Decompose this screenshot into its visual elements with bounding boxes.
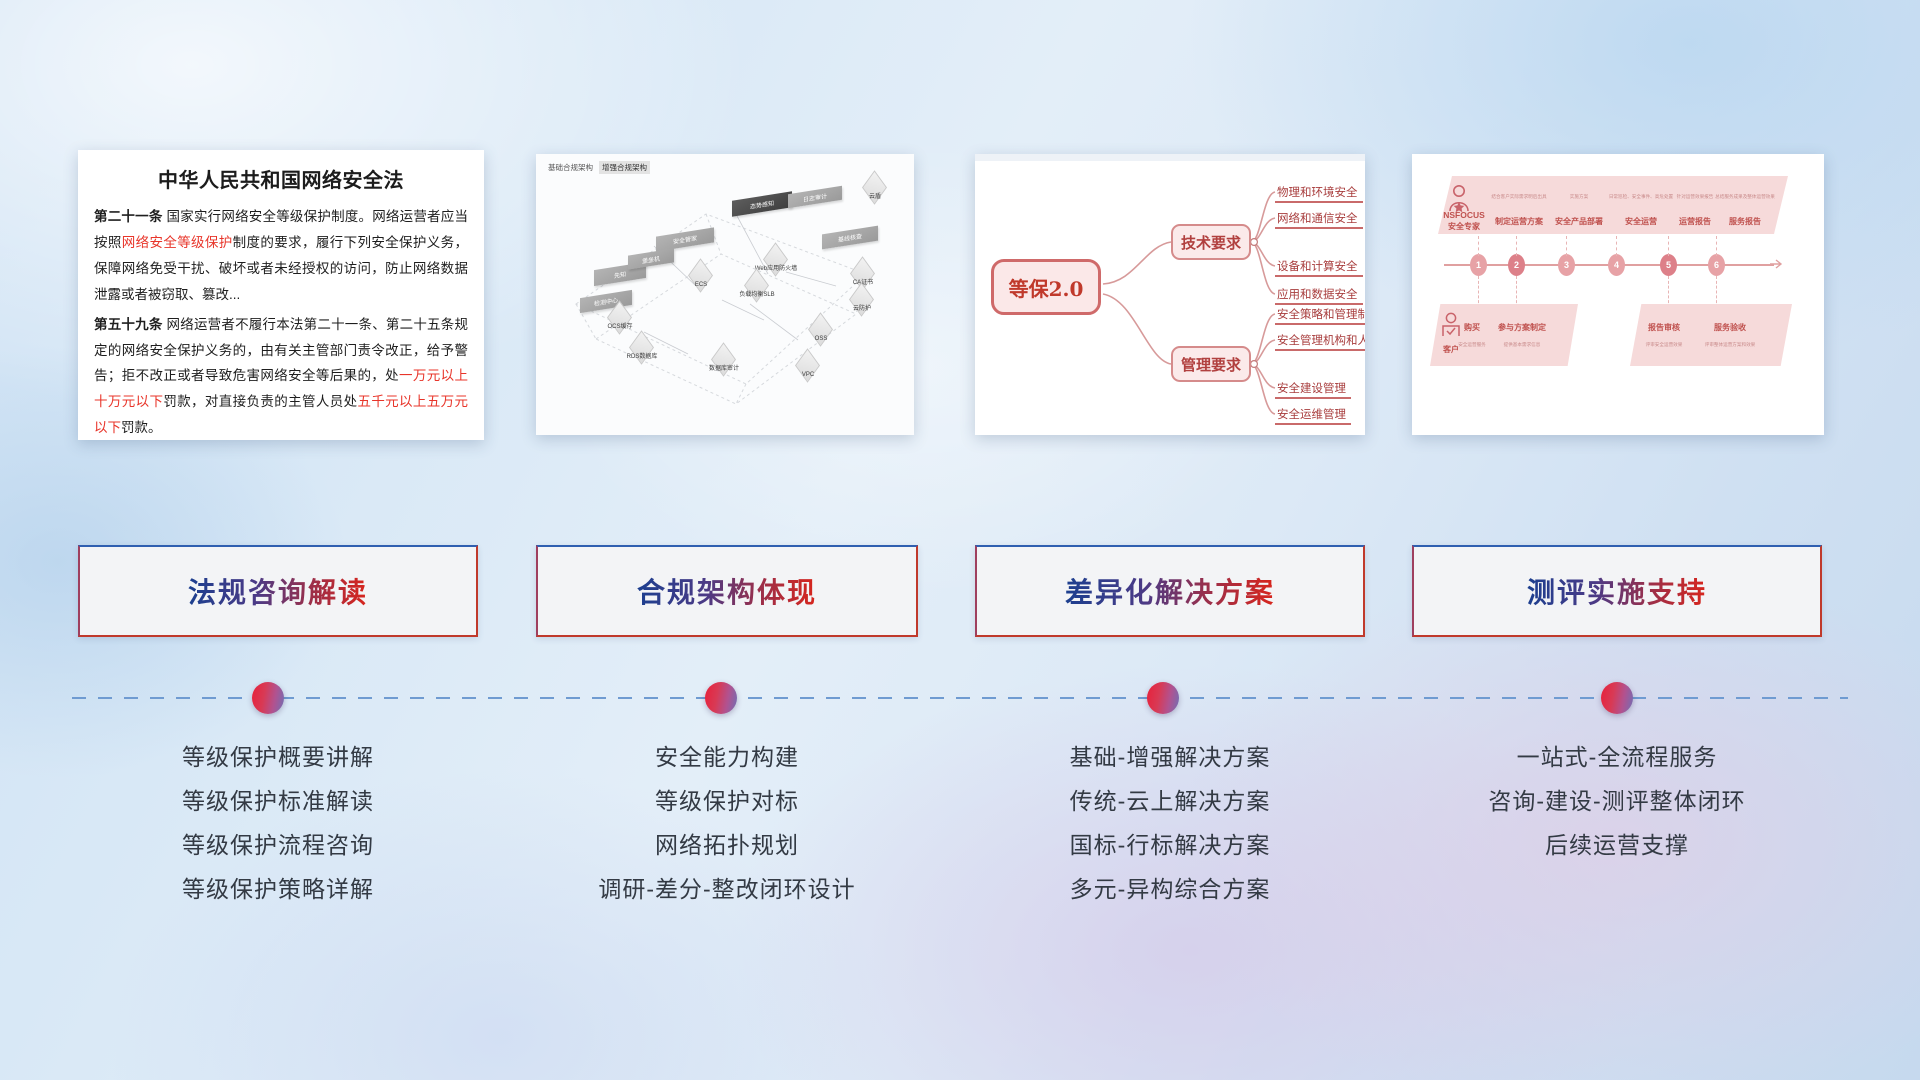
mindmap-leaf-underline: [1275, 397, 1351, 399]
mindmap-leaf[interactable]: 安全运维管理: [1277, 406, 1346, 422]
architecture-node: 云防护: [842, 306, 882, 313]
mindmap: 等保2.0 技术要求 管理要求 物理和环境安全网络和通信安全设备和计算安全应用和…: [975, 154, 1365, 435]
mindmap-leaf[interactable]: 应用和数据安全: [1277, 286, 1358, 302]
card-dengbao-mindmap: 等保2.0 技术要求 管理要求 物理和环境安全网络和通信安全设备和计算安全应用和…: [975, 154, 1365, 435]
nsfocus-bottom-step-title[interactable]: 报告审核: [1634, 322, 1694, 333]
mindmap-leaf[interactable]: 安全策略和管理制度: [1277, 306, 1365, 322]
architecture-node: 负载均衡SLB: [724, 292, 790, 299]
nsfocus-bottom-step-title[interactable]: 参与方案制定: [1492, 322, 1552, 333]
slide-stage: 中华人民共和国网络安全法 第二十一条 国家实行网络安全等级保护制度。网络运营者应…: [0, 0, 1920, 1080]
pillar-headers: 法规咨询解读 合规架构体现 差异化解决方案 测评实施支持: [0, 545, 1920, 645]
pillar-header-4[interactable]: 测评实施支持: [1412, 545, 1822, 637]
pillar-4-item: 一站式-全流程服务: [1412, 735, 1822, 779]
pillar-header-2[interactable]: 合规架构体现: [536, 545, 918, 637]
nsfocus-timeline: NSFOCUS 安全专家 结合客户实际需求明后出具制定运营方案实施方案安全产品部…: [1412, 154, 1824, 435]
mindmap-leaf-underline: [1275, 349, 1365, 351]
pillar-2-item: 等级保护对标: [536, 779, 918, 823]
law-article-21-label: 第二十一条: [94, 209, 163, 224]
pillar-node-4[interactable]: [1601, 682, 1633, 714]
pillar-1-item: 等级保护概要讲解: [78, 735, 478, 779]
card-compliance-architecture: 基础合规架构 增强合规架构 先知安全管家: [536, 154, 914, 435]
nsfocus-step-sub: 总结服务成果及整体运营效果: [1706, 194, 1784, 200]
pillar-header-2-label: 合规架构体现: [637, 571, 817, 611]
pillar-2-item: 安全能力构建: [536, 735, 918, 779]
architecture-node: 数据库审计: [696, 366, 752, 373]
pillar-2-item: 调研-差分-整改闭环设计: [536, 867, 918, 911]
mindmap-leaf[interactable]: 安全管理机构和人员: [1277, 332, 1365, 348]
law-title: 中华人民共和国网络安全法: [94, 164, 468, 193]
pillar-3-item: 基础-增强解决方案: [975, 735, 1365, 779]
mindmap-root-node[interactable]: 等保2.0: [991, 259, 1101, 315]
architecture-node: VPC: [792, 372, 824, 379]
timeline-link-up: [1478, 236, 1479, 256]
law-article-59-text-c: 罚款。: [121, 420, 162, 435]
timeline-link-up: [1566, 236, 1567, 256]
pillar-header-3-label: 差异化解决方案: [1065, 571, 1275, 611]
timeline-step-2[interactable]: 2: [1508, 254, 1525, 276]
architecture-node: OSS: [804, 336, 838, 343]
pillar-3-item: 国标-行标解决方案: [975, 823, 1365, 867]
timeline-link-up: [1516, 236, 1517, 256]
illustration-cards: 中华人民共和国网络安全法 第二十一条 国家实行网络安全等级保护制度。网络运营者应…: [0, 150, 1920, 450]
nsfocus-step-title[interactable]: 服务报告: [1704, 216, 1786, 227]
timeline-link-up: [1716, 236, 1717, 256]
pillar-node-3[interactable]: [1147, 682, 1179, 714]
pillar-4-item: 后续运营支撑: [1412, 823, 1822, 867]
mindmap-leaf-underline: [1275, 303, 1363, 305]
mindmap-leaf[interactable]: 设备和计算安全: [1277, 258, 1358, 274]
timeline-arrow-icon: [1770, 258, 1784, 272]
mindmap-leaf[interactable]: 网络和通信安全: [1277, 210, 1358, 226]
pillar-header-1-label: 法规咨询解读: [188, 571, 368, 611]
mindmap-leaf-underline: [1275, 201, 1363, 203]
nsfocus-bottom-step-title[interactable]: 服务验收: [1700, 322, 1760, 333]
card-cybersecurity-law: 中华人民共和国网络安全法 第二十一条 国家实行网络安全等级保护制度。网络运营者应…: [78, 150, 484, 440]
law-article-59: 第五十九条 网络运营者不履行本法第二十一条、第二十五条规定的网络安全保护义务的，…: [94, 312, 468, 440]
timeline-link-down: [1716, 276, 1717, 308]
pillar-2-item: 网络拓扑规划: [536, 823, 918, 867]
architecture-node: ECS: [686, 282, 716, 289]
customer-band-right: [1630, 304, 1792, 366]
architecture-node: RDS数据库: [614, 354, 670, 361]
tab-enhanced-architecture[interactable]: 增强合规架构: [599, 161, 650, 174]
timeline-link-down: [1668, 276, 1669, 308]
architecture-node: Web应用防火墙: [740, 266, 812, 273]
law-text-block: 中华人民共和国网络安全法 第二十一条 国家实行网络安全等级保护制度。网络运营者应…: [78, 150, 484, 440]
pillar-1-item: 等级保护策略详解: [78, 867, 478, 911]
nsfocus-bottom-step-sub: 评审整体运营方案和效果: [1698, 342, 1762, 348]
pillar-3-item: 多元-异构综合方案: [975, 867, 1365, 911]
pillar-list-1: 等级保护概要讲解等级保护标准解读等级保护流程咨询等级保护策略详解: [78, 735, 478, 912]
pillar-list-4: 一站式-全流程服务咨询-建设-测评整体闭环后续运营支撑: [1412, 735, 1822, 867]
mindmap-leaf[interactable]: 安全建设管理: [1277, 380, 1346, 396]
pillar-list-3: 基础-增强解决方案传统-云上解决方案国标-行标解决方案多元-异构综合方案: [975, 735, 1365, 912]
architecture-diagram: 基础合规架构 增强合规架构 先知安全管家: [536, 154, 914, 435]
law-article-21-highlight: 网络安全等级保护: [122, 235, 233, 250]
timeline-link-up: [1668, 236, 1669, 256]
pillar-4-item: 咨询-建设-测评整体闭环: [1412, 779, 1822, 823]
card-nsfocus-service-timeline: NSFOCUS 安全专家 结合客户实际需求明后出具制定运营方案实施方案安全产品部…: [1412, 154, 1824, 435]
mindmap-branch-management[interactable]: 管理要求: [1171, 346, 1251, 382]
pillar-1-item: 等级保护流程咨询: [78, 823, 478, 867]
pillar-list-2: 安全能力构建等级保护对标网络拓扑规划调研-差分-整改闭环设计: [536, 735, 918, 912]
architecture-tabs: 基础合规架构 增强合规架构: [545, 161, 650, 174]
timeline-step-6[interactable]: 6: [1708, 254, 1725, 276]
timeline-step-3[interactable]: 3: [1558, 254, 1575, 276]
law-article-59-label: 第五十九条: [94, 317, 163, 332]
pillar-timeline-axis: [72, 697, 1848, 699]
mindmap-leaf[interactable]: 物理和环境安全: [1277, 184, 1358, 200]
timeline-step-4[interactable]: 4: [1608, 254, 1625, 276]
timeline-link-down: [1516, 276, 1517, 308]
mindmap-branch-technical[interactable]: 技术要求: [1171, 224, 1251, 260]
architecture-node: OCS缓存: [596, 324, 644, 331]
timeline-link-up: [1616, 236, 1617, 256]
pillar-1-item: 等级保护标准解读: [78, 779, 478, 823]
mindmap-leaf-underline: [1275, 275, 1363, 277]
pillar-header-3[interactable]: 差异化解决方案: [975, 545, 1365, 637]
architecture-node: 云盾: [858, 194, 892, 201]
pillar-node-2[interactable]: [705, 682, 737, 714]
nsfocus-bottom-step-sub: 提供基本需求信息: [1490, 342, 1554, 348]
mindmap-leaf-underline: [1275, 423, 1351, 425]
timeline-step-5[interactable]: 5: [1660, 254, 1677, 276]
pillar-header-4-label: 测评实施支持: [1527, 571, 1707, 611]
nsfocus-bottom-step-sub: 评审安全运营效果: [1632, 342, 1696, 348]
pillar-node-1[interactable]: [252, 682, 284, 714]
pillar-header-1[interactable]: 法规咨询解读: [78, 545, 478, 637]
law-article-21: 第二十一条 国家实行网络安全等级保护制度。网络运营者应当按照网络安全等级保护制度…: [94, 204, 468, 308]
timeline-link-down: [1478, 276, 1479, 308]
timeline-step-1[interactable]: 1: [1470, 254, 1487, 276]
tab-basic-architecture[interactable]: 基础合规架构: [545, 161, 596, 174]
pillar-3-item: 传统-云上解决方案: [975, 779, 1365, 823]
mindmap-leaf-underline: [1275, 227, 1363, 229]
mindmap-leaf-underline: [1275, 323, 1365, 325]
law-article-59-text-b: 罚款，对直接负责的主管人员处: [163, 394, 357, 409]
